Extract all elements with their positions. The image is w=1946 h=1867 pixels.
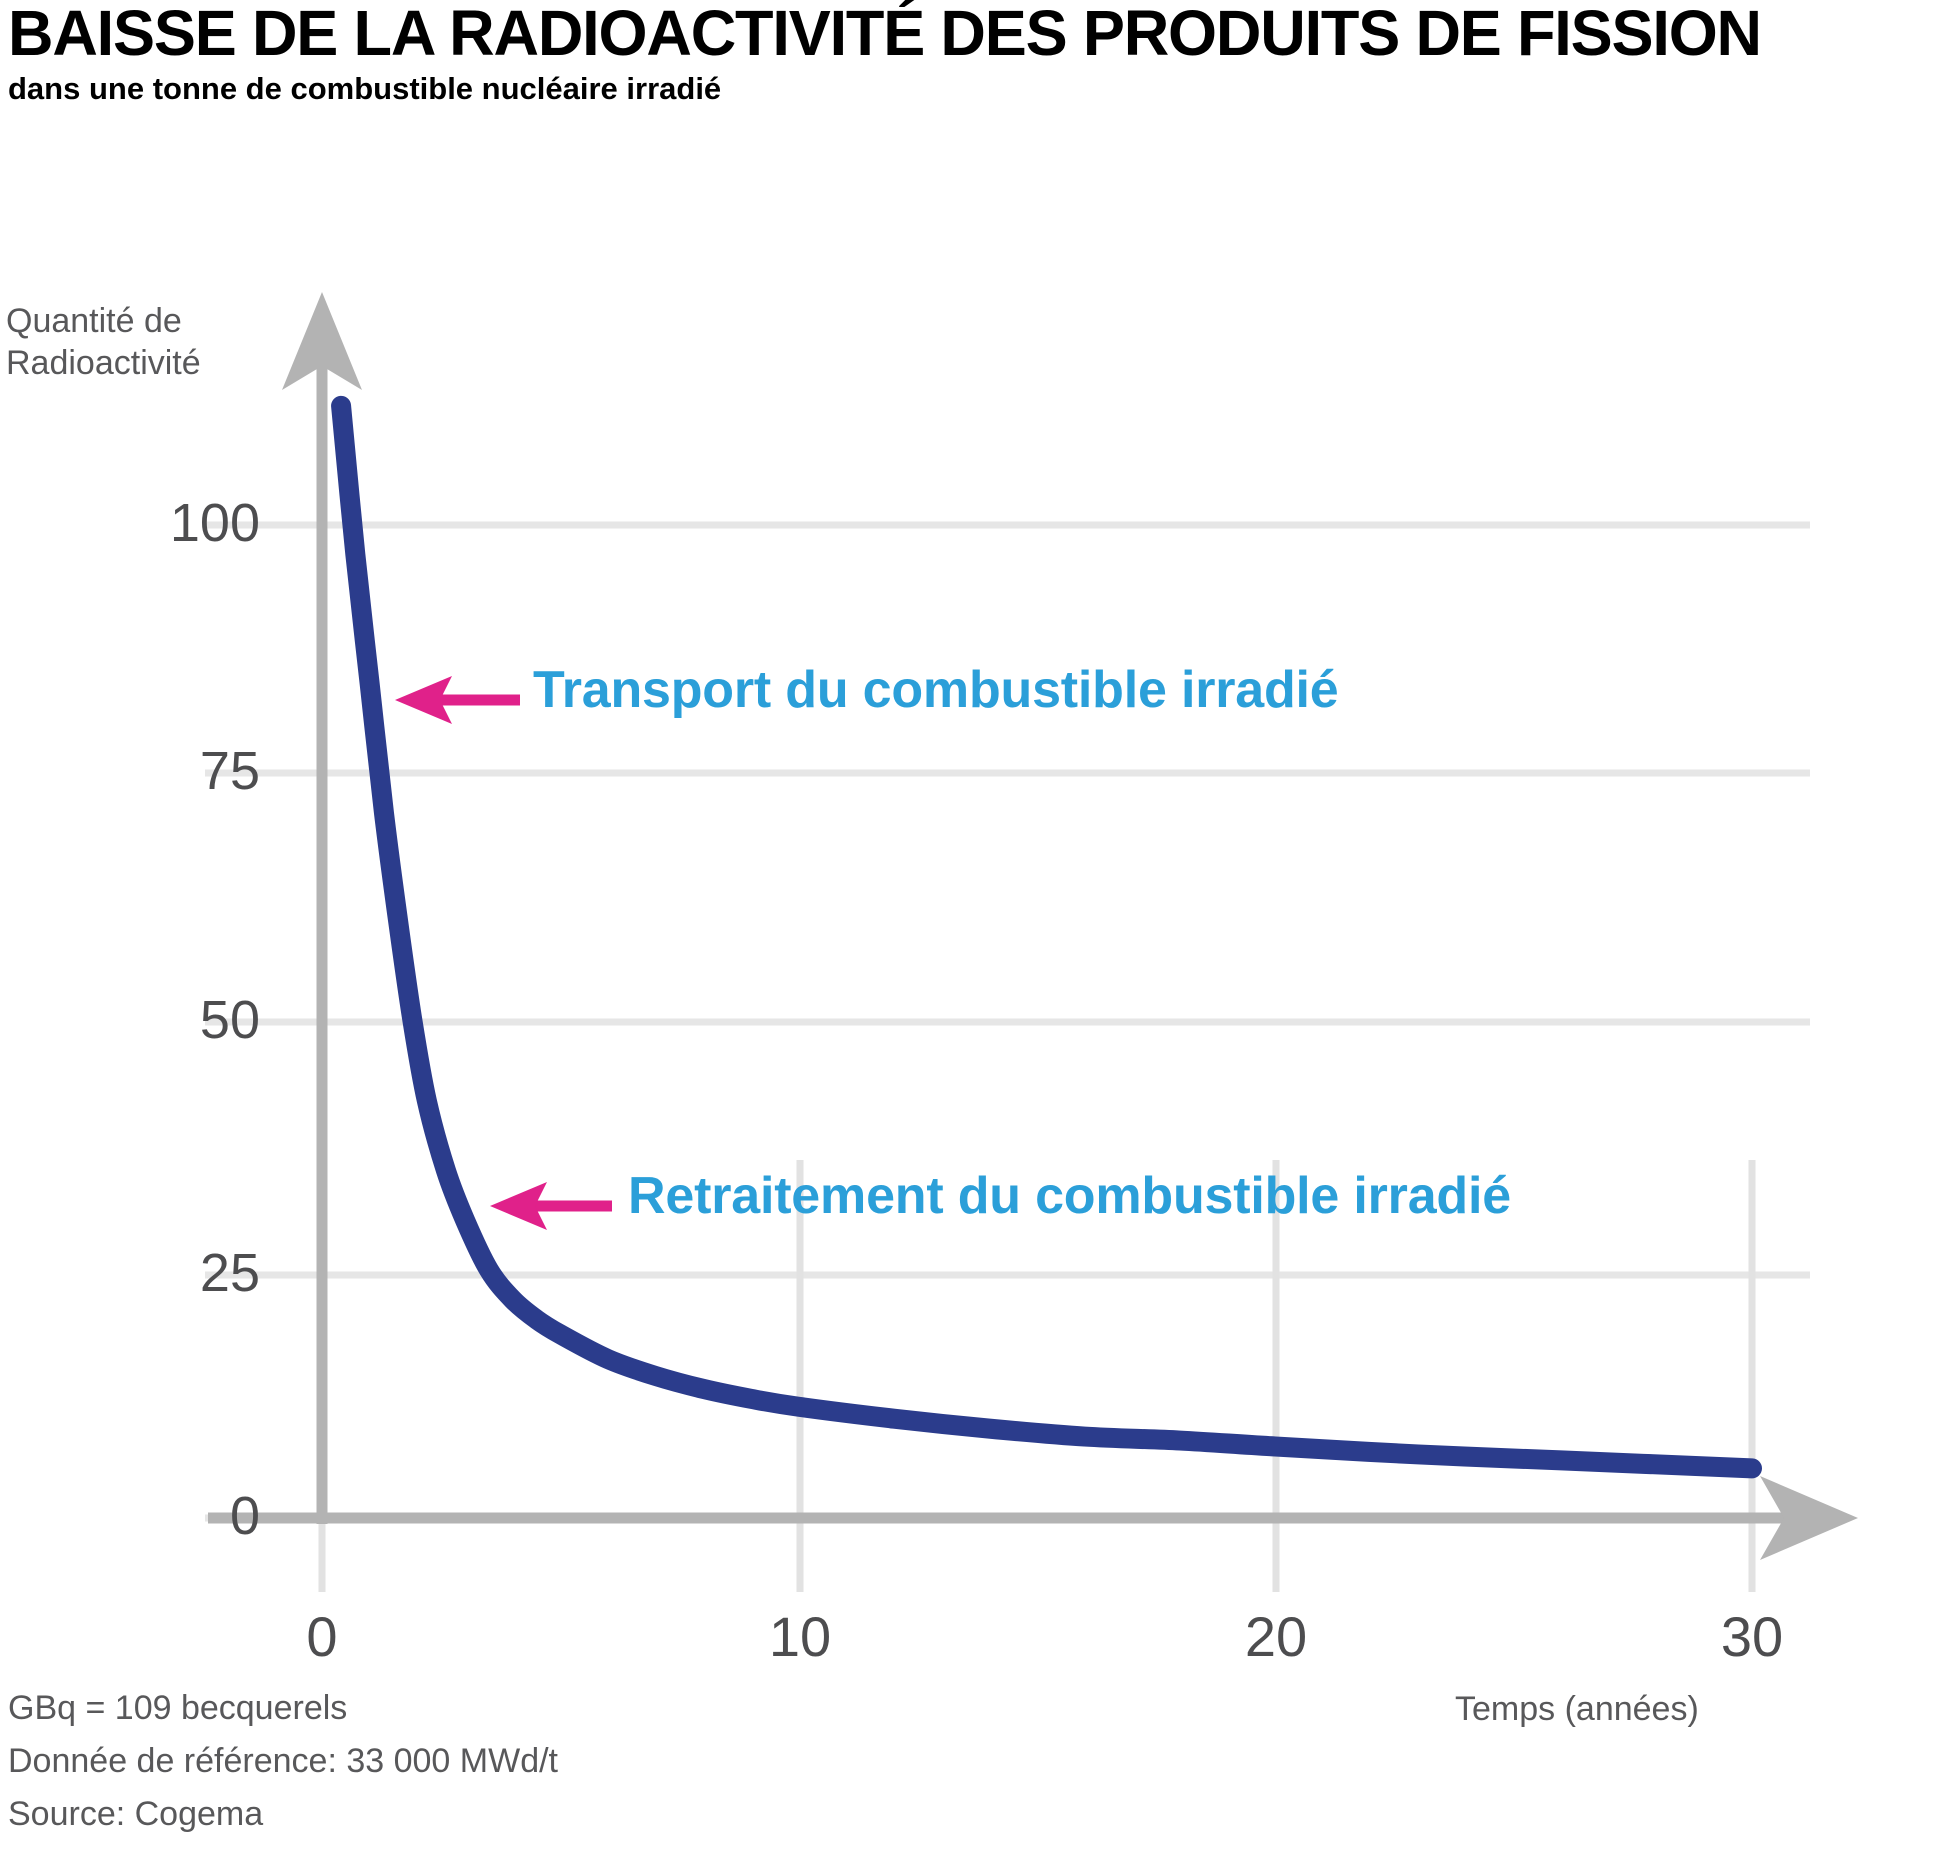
x-tick-label-30: 30 [1652, 1604, 1852, 1669]
x-tick-label-20: 20 [1176, 1604, 1376, 1669]
footnote-gbq: GBq = 109 becquerels [8, 1682, 908, 1735]
x-axis [208, 1476, 1858, 1560]
chart-plot-area: Quantité deRadioactivité Temps (années) … [0, 0, 1946, 1867]
chart-footnotes: GBq = 109 becquerels Donnée de référence… [8, 1682, 908, 1841]
annotation-arrow-retraitement [490, 1182, 612, 1230]
y-axis-title-line2: Radioactivité [6, 344, 201, 382]
data-series-radioactivity [341, 406, 1752, 1469]
y-tick-label-75: 75 [60, 740, 260, 802]
y-tick-label-100: 100 [60, 492, 260, 554]
y-tick-label-50: 50 [60, 989, 260, 1051]
annotation-label-transport: Transport du combustible irradié [533, 660, 1339, 720]
chart-svg [0, 0, 1946, 1867]
x-tick-label-0: 0 [222, 1604, 422, 1669]
x-axis-title: Temps (années) [1455, 1688, 1699, 1730]
y-tick-label-0: 0 [60, 1485, 260, 1547]
footnote-donnee: Donnée de référence: 33 000 MWd/t [8, 1735, 908, 1788]
x-tick-label-10: 10 [700, 1604, 900, 1669]
footnote-source: Source: Cogema [8, 1788, 908, 1841]
annotation-label-retraitement: Retraitement du combustible irradié [628, 1166, 1511, 1226]
y-axis-title: Quantité deRadioactivité [6, 300, 306, 384]
y-tick-label-25: 25 [60, 1242, 260, 1304]
y-axis-title-line1: Quantité de [6, 302, 182, 340]
annotation-arrow-transport [395, 676, 520, 724]
